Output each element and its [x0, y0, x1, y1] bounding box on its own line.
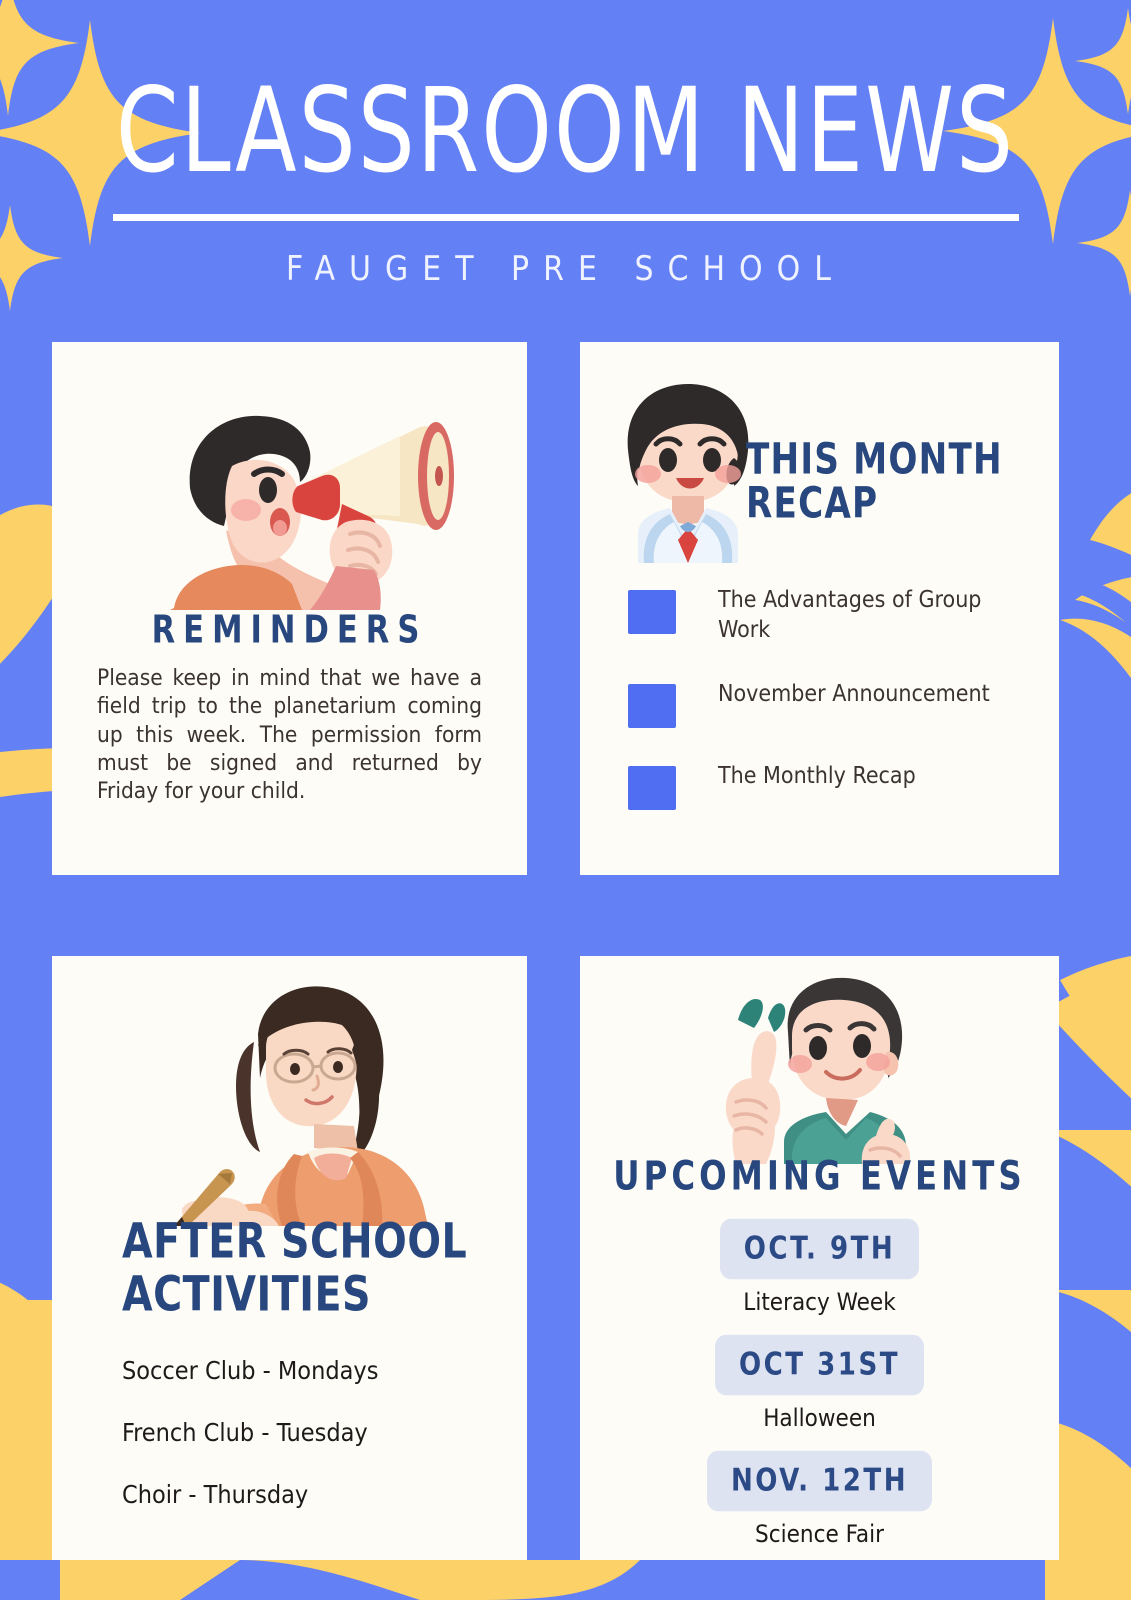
school-subtitle: FAUGET PRE SCHOOL [0, 250, 1131, 289]
events-list: OCT. 9TH Literacy Week OCT 31ST Hallowee… [580, 1221, 1059, 1569]
recap-item-label: The Advantages of Group Work [718, 586, 1028, 646]
square-bullet-icon [628, 684, 676, 728]
event-row: OCT 31ST Halloween [580, 1337, 1059, 1432]
recap-heading: THIS MONTH RECAP [746, 438, 1046, 525]
recap-heading-line1: THIS MONTH [746, 435, 1046, 484]
recap-heading-line2: RECAP [746, 479, 1046, 528]
page-title: CLASSROOM NEWS [0, 72, 1131, 189]
square-bullet-icon [628, 590, 676, 634]
square-bullet-icon [628, 766, 676, 810]
after-school-heading-line1: AFTER SCHOOL [122, 1213, 522, 1271]
event-row: OCT. 9TH Literacy Week [580, 1221, 1059, 1316]
card-this-month-recap: THIS MONTH RECAP The Advantages of Group… [580, 342, 1059, 875]
reminders-body-text: Please keep in mind that we have a field… [97, 664, 482, 806]
person-shouting-megaphone-icon [150, 370, 490, 610]
list-item: November Announcement [628, 680, 1028, 728]
after-school-list: Soccer Club - Mondays French Club - Tues… [122, 1356, 502, 1542]
recap-item-label: November Announcement [718, 680, 990, 710]
list-item: Choir - Thursday [122, 1480, 502, 1509]
poster-header: CLASSROOM NEWS FAUGET PRE SCHOOL [0, 0, 1131, 320]
after-school-heading-line2: ACTIVITIES [122, 1266, 522, 1324]
event-name-label: Science Fair [580, 1520, 1059, 1548]
teacher-writing-pencil-icon [162, 976, 452, 1226]
event-date-badge[interactable]: NOV. 12TH [707, 1451, 932, 1511]
after-school-heading: AFTER SCHOOL ACTIVITIES [122, 1216, 522, 1322]
card-upcoming-events: UPCOMING EVENTS OCT. 9TH Literacy Week O… [580, 956, 1059, 1560]
smiling-boy-sailor-icon [608, 378, 768, 563]
list-item: The Monthly Recap [628, 762, 1028, 810]
list-item: The Advantages of Group Work [628, 586, 1028, 646]
event-date-badge[interactable]: OCT 31ST [715, 1335, 924, 1395]
list-item: French Club - Tuesday [122, 1418, 502, 1447]
event-date-badge[interactable]: OCT. 9TH [720, 1219, 920, 1279]
recap-item-label: The Monthly Recap [718, 762, 916, 792]
card-after-school-activities: AFTER SCHOOL ACTIVITIES Soccer Club - Mo… [52, 956, 527, 1560]
boy-thumbs-up-icon [680, 974, 910, 1164]
reminders-heading: REMINDERS [52, 608, 527, 653]
title-divider [113, 214, 1019, 221]
list-item: Soccer Club - Mondays [122, 1356, 502, 1385]
event-name-label: Halloween [580, 1404, 1059, 1432]
poster-canvas: CLASSROOM NEWS FAUGET PRE SCHOOL [0, 0, 1131, 1600]
recap-list: The Advantages of Group Work November An… [628, 586, 1028, 844]
card-reminders: REMINDERS Please keep in mind that we ha… [52, 342, 527, 875]
upcoming-events-heading: UPCOMING EVENTS [580, 1154, 1059, 1200]
event-name-label: Literacy Week [580, 1288, 1059, 1316]
event-row: NOV. 12TH Science Fair [580, 1453, 1059, 1548]
card-grid: REMINDERS Please keep in mind that we ha… [52, 342, 1059, 1560]
